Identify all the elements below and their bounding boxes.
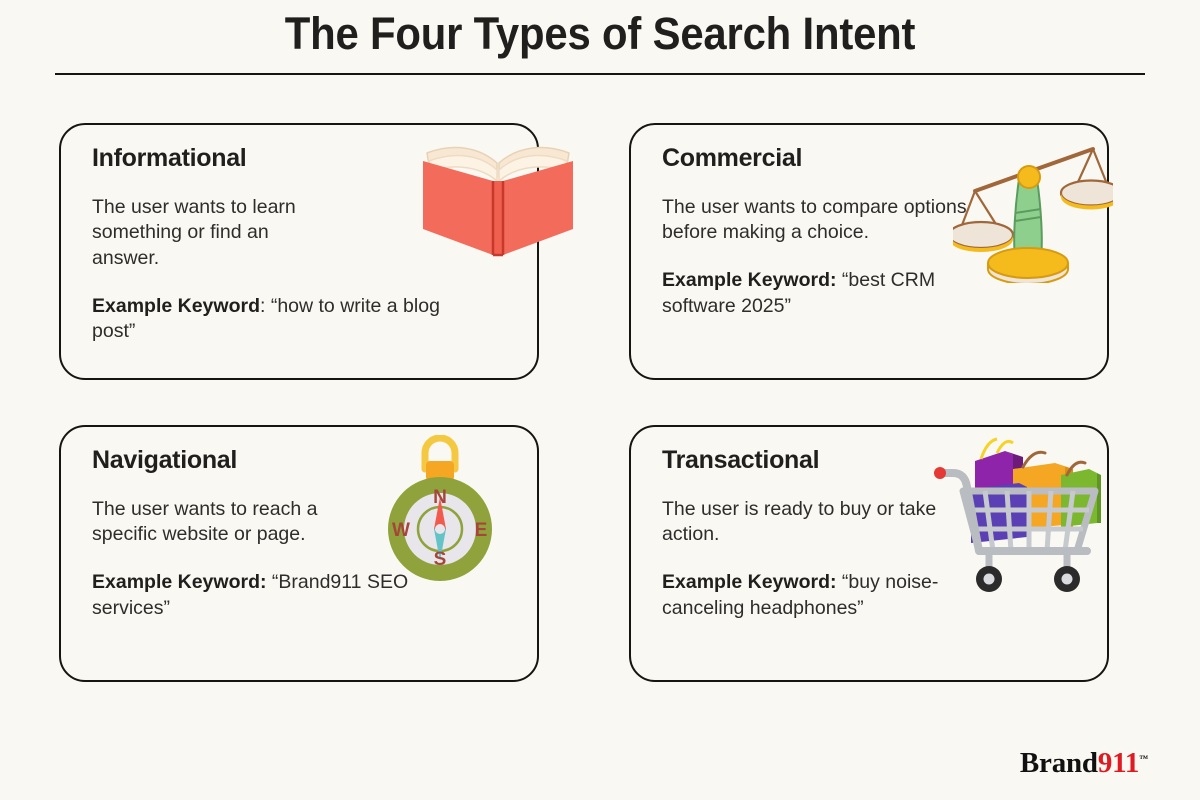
page-header: The Four Types of Search Intent — [0, 0, 1200, 92]
card-keyword-separator: : — [260, 295, 271, 317]
card-keyword-label: Example Keyword: — [92, 571, 266, 593]
card-heading: Informational — [92, 145, 462, 173]
brand-logo: Brand911™ — [1020, 749, 1148, 778]
card-description: The user wants to reach a specific websi… — [92, 497, 337, 548]
card-description: The user is ready to buy or take action. — [662, 497, 992, 548]
logo-brand-text: Brand — [1020, 747, 1098, 779]
card-navigational: Navigational The user wants to reach a s… — [59, 425, 539, 682]
compass-label-east: E — [475, 520, 488, 541]
card-keyword-label: Example Keyword — [92, 295, 260, 317]
card-keyword-line: Example Keyword: “Brand911 SEO services” — [92, 570, 444, 621]
card-heading: Transactional — [662, 447, 1032, 475]
infographic-page: The Four Types of Search Intent Informat… — [0, 0, 1200, 800]
card-keyword-line: Example Keyword: “best CRM software 2025… — [662, 268, 1014, 319]
card-text-block: Informational The user wants to learn so… — [92, 145, 462, 345]
card-informational: Informational The user wants to learn so… — [59, 123, 539, 380]
card-keyword-line: Example Keyword: “buy noise-canceling he… — [662, 570, 1014, 621]
card-commercial: Commercial The user wants to compare opt… — [629, 123, 1109, 380]
card-heading: Commercial — [662, 145, 1032, 173]
card-heading: Navigational — [92, 447, 462, 475]
header-divider — [55, 73, 1145, 75]
page-title: The Four Types of Search Intent — [42, 8, 1158, 60]
card-text-block: Navigational The user wants to reach a s… — [92, 447, 462, 621]
card-keyword-line: Example Keyword: “how to write a blog po… — [92, 294, 444, 345]
card-description: The user wants to compare options before… — [662, 195, 992, 246]
logo-trademark: ™ — [1139, 753, 1148, 763]
card-keyword-label: Example Keyword: — [662, 571, 836, 593]
card-transactional: Transactional The user is ready to buy o… — [629, 425, 1109, 682]
logo-number-text: 911 — [1098, 747, 1139, 779]
card-text-block: Transactional The user is ready to buy o… — [662, 447, 1032, 621]
card-description: The user wants to learn something or fin… — [92, 195, 337, 272]
card-text-block: Commercial The user wants to compare opt… — [662, 145, 1032, 319]
card-keyword-label: Example Keyword: — [662, 269, 836, 291]
